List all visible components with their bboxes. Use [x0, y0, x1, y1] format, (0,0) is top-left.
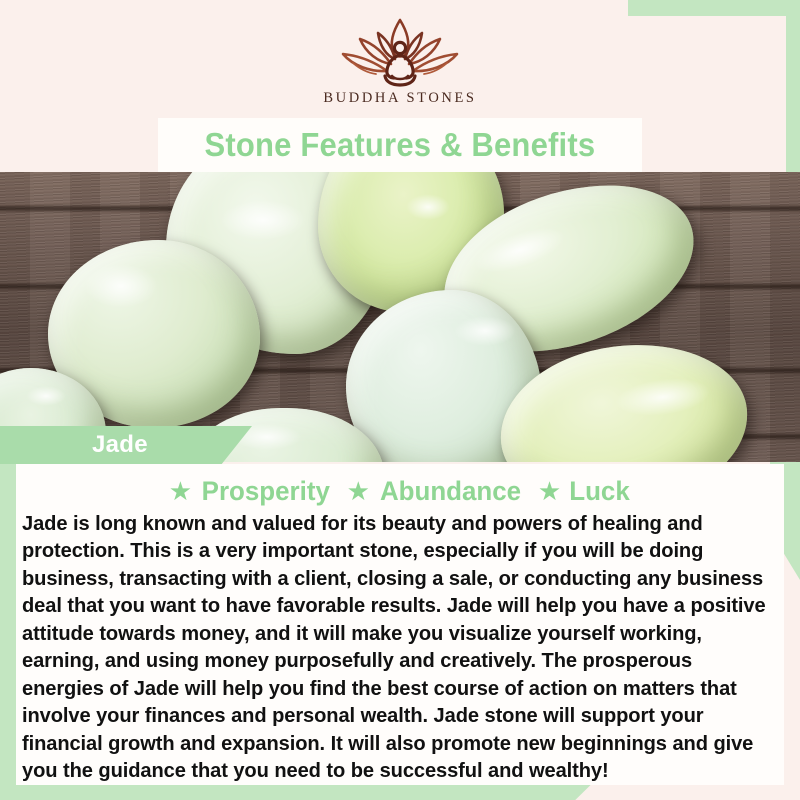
benefit-item-prosperity: ★ Prosperity	[169, 476, 333, 507]
benefits-row: ★ Prosperity ★ Abundance ★ Luck	[16, 464, 784, 509]
page-title: Stone Features & Benefits	[205, 126, 596, 164]
lotus-meditation-icon	[331, 14, 469, 88]
benefit-item-abundance: ★ Abundance	[347, 476, 524, 507]
decorative-band-left-lower	[0, 420, 16, 800]
benefit-label: Abundance	[380, 476, 521, 507]
stone-description: Jade is long known and valued for its be…	[22, 511, 767, 785]
star-icon: ★	[347, 478, 370, 504]
title-banner: Stone Features & Benefits	[158, 118, 642, 172]
stone-photo	[0, 172, 800, 462]
star-icon: ★	[169, 478, 192, 504]
brand-header: BUDDHA STONES	[0, 0, 800, 118]
benefit-item-luck: ★ Luck	[538, 476, 631, 507]
benefit-label: Prosperity	[202, 476, 330, 507]
benefit-label: Luck	[569, 476, 630, 507]
content-panel: ★ Prosperity ★ Abundance ★ Luck Jade is …	[16, 464, 784, 785]
infographic-card: BUDDHA STONES Stone Features & Benefits …	[0, 0, 800, 800]
stone-name-band: Jade	[0, 426, 252, 464]
brand-logo: BUDDHA STONES	[285, 14, 515, 107]
stone-name-label: Jade	[92, 431, 148, 459]
brand-name: BUDDHA STONES	[285, 90, 515, 107]
star-icon: ★	[538, 478, 561, 504]
